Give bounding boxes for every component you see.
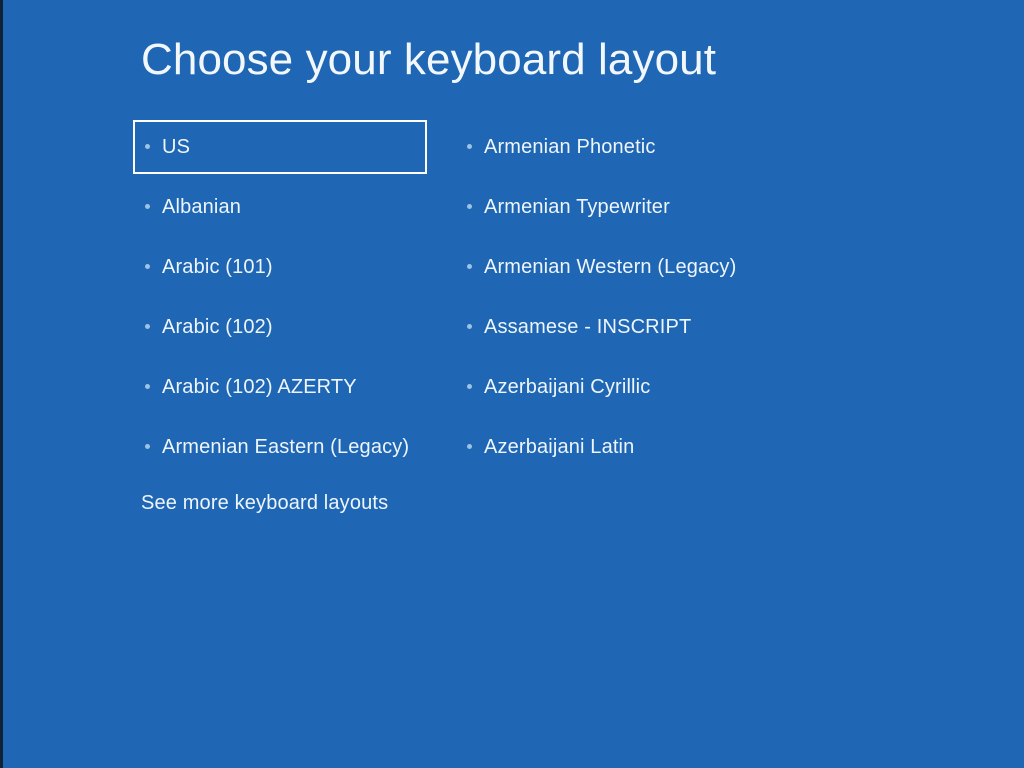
keyboard-layout-label: Armenian Western (Legacy) [484,256,736,279]
keyboard-layout-label: Albanian [162,196,241,219]
keyboard-layout-label: US [162,136,190,159]
keyboard-layout-option-albanian[interactable]: Albanian [133,180,427,234]
keyboard-layout-option-arabic-102[interactable]: Arabic (102) [133,300,427,354]
keyboard-layout-label: Armenian Eastern (Legacy) [162,436,409,459]
keyboard-layout-label: Armenian Phonetic [484,136,656,159]
keyboard-layout-column-two: Armenian Phonetic Armenian Typewriter Ar… [463,120,883,480]
keyboard-layout-option-us[interactable]: US [133,120,427,174]
keyboard-layout-option-armenian-phonetic[interactable]: Armenian Phonetic [463,120,883,174]
bullet-icon [145,264,150,269]
keyboard-layout-option-armenian-eastern-legacy[interactable]: Armenian Eastern (Legacy) [133,420,427,474]
bullet-icon [467,324,472,329]
keyboard-layout-option-azerbaijani-latin[interactable]: Azerbaijani Latin [463,420,883,474]
keyboard-layout-option-arabic-102-azerty[interactable]: Arabic (102) AZERTY [133,360,427,414]
page-title: Choose your keyboard layout [141,36,716,84]
keyboard-layout-label: Azerbaijani Cyrillic [484,376,650,399]
see-more-keyboard-layouts-link[interactable]: See more keyboard layouts [141,492,388,515]
bullet-icon [145,204,150,209]
bullet-icon [467,144,472,149]
keyboard-layout-option-armenian-typewriter[interactable]: Armenian Typewriter [463,180,883,234]
screen-left-edge [0,0,3,768]
bullet-icon [467,264,472,269]
keyboard-layout-label: Arabic (101) [162,256,273,279]
keyboard-layout-label: Arabic (102) AZERTY [162,376,357,399]
bullet-icon [145,324,150,329]
keyboard-layout-option-assamese-inscript[interactable]: Assamese - INSCRIPT [463,300,883,354]
bullet-icon [467,444,472,449]
keyboard-layout-label: Assamese - INSCRIPT [484,316,691,339]
keyboard-layout-column-one: US Albanian Arabic (101) Arabic (102) Ar… [133,120,427,480]
keyboard-layout-option-armenian-western-legacy[interactable]: Armenian Western (Legacy) [463,240,883,294]
keyboard-layout-option-azerbaijani-cyrillic[interactable]: Azerbaijani Cyrillic [463,360,883,414]
keyboard-layout-label: Arabic (102) [162,316,273,339]
bullet-icon [145,384,150,389]
keyboard-layout-label: Azerbaijani Latin [484,436,634,459]
keyboard-layout-screen: Choose your keyboard layout US Albanian … [0,0,1024,768]
bullet-icon [467,204,472,209]
bullet-icon [145,144,150,149]
keyboard-layout-option-arabic-101[interactable]: Arabic (101) [133,240,427,294]
keyboard-layout-label: Armenian Typewriter [484,196,670,219]
bullet-icon [145,444,150,449]
bullet-icon [467,384,472,389]
